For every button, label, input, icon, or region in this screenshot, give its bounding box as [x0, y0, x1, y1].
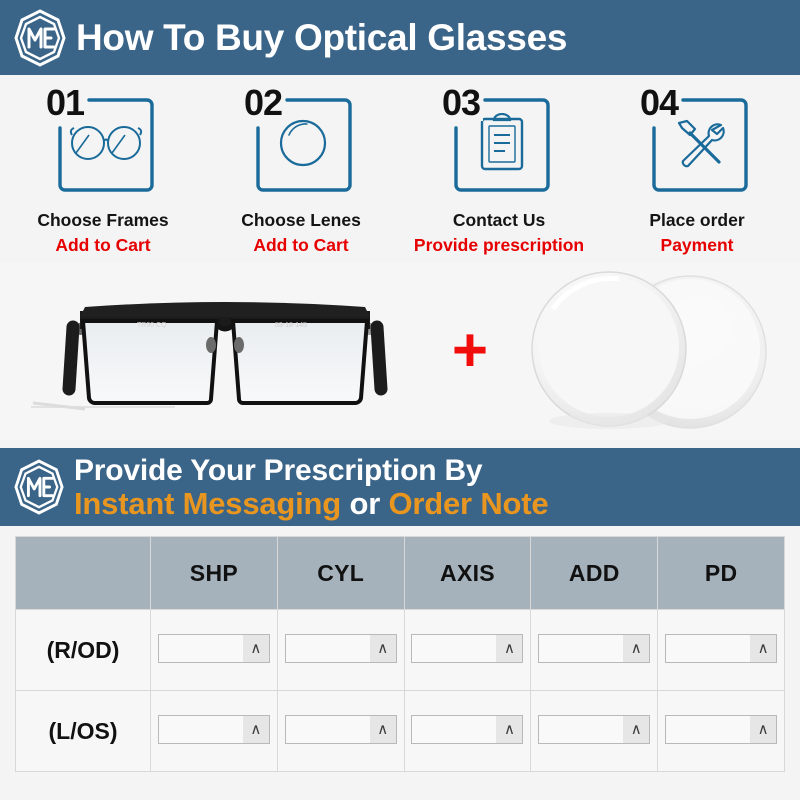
chevron-up-icon[interactable]: ∧ [750, 716, 776, 743]
row-label-left-eye: (L/OS) [16, 691, 151, 772]
hammer-wrench-icon [673, 117, 729, 169]
step-item-2[interactable]: 02 Choose Lenes Add to Cart [202, 89, 400, 256]
svg-text:TR90 CQ: TR90 CQ [137, 322, 167, 329]
table-header-row: SHP CYL AXIS ADD PD [16, 537, 785, 610]
row-label-text: (L/OS) [49, 718, 118, 744]
chevron-up-icon[interactable]: ∧ [750, 635, 776, 662]
table-header: SHP CYL AXIS ADD PD [16, 537, 785, 610]
select-right-shp[interactable]: ∧ [158, 634, 270, 663]
select-right-axis-value [412, 635, 496, 662]
table-row-left-eye: (L/OS) ∧ ∧ ∧ [16, 691, 785, 772]
select-left-cyl-value [286, 716, 370, 743]
select-left-add-value [539, 716, 623, 743]
select-left-axis-value [412, 716, 496, 743]
chevron-up-icon[interactable]: ∧ [623, 635, 649, 662]
step-4-label: Place order [649, 210, 744, 231]
step-1-sub: Add to Cart [55, 235, 150, 256]
chevron-up-icon[interactable]: ∧ [496, 716, 522, 743]
product-illustration-row: TR90 CQ 53-18-145 + [0, 262, 800, 440]
step-4-icon-frame: 04 [635, 89, 759, 197]
step-3-sub: Provide prescription [414, 235, 584, 256]
or-text: or [341, 486, 388, 521]
select-left-cyl[interactable]: ∧ [285, 715, 397, 744]
header-banner-top: How To Buy Optical Glasses [0, 0, 800, 75]
table-body: (R/OD) ∧ ∧ ∧ [16, 610, 785, 772]
step-3-number: 03 [439, 85, 483, 121]
clipboard-icon [477, 113, 527, 171]
select-right-pd[interactable]: ∧ [665, 634, 777, 663]
cell-left-shp: ∧ [151, 691, 278, 772]
row-label-right-eye: (R/OD) [16, 610, 151, 691]
row-label-text: (R/OD) [47, 637, 120, 663]
step-1-icon-frame: 01 [41, 89, 165, 197]
cell-left-axis: ∧ [404, 691, 531, 772]
chevron-up-icon[interactable]: ∧ [370, 716, 396, 743]
select-left-pd[interactable]: ∧ [665, 715, 777, 744]
chevron-up-icon[interactable]: ∧ [496, 635, 522, 662]
me-octagon-logo-icon [14, 9, 66, 67]
step-2-icon-frame: 02 [239, 89, 363, 197]
select-right-axis[interactable]: ∧ [411, 634, 523, 663]
step-2-sub: Add to Cart [253, 235, 348, 256]
prescription-table: SHP CYL AXIS ADD PD (R/OD) ∧ ∧ [15, 536, 785, 772]
plus-symbol: + [440, 332, 500, 369]
chevron-up-icon[interactable]: ∧ [243, 635, 269, 662]
step-4-sub: Payment [661, 235, 734, 256]
step-2-label: Choose Lenes [241, 210, 361, 231]
step-1-label: Choose Frames [37, 210, 168, 231]
select-right-cyl[interactable]: ∧ [285, 634, 397, 663]
select-right-add-value [539, 635, 623, 662]
select-left-shp[interactable]: ∧ [158, 715, 270, 744]
lens-circle-icon [275, 115, 331, 171]
chevron-up-icon[interactable]: ∧ [370, 635, 396, 662]
me-octagon-logo-icon [14, 459, 64, 515]
cell-right-pd: ∧ [658, 610, 785, 691]
header-cyl: CYL [277, 537, 404, 610]
chevron-up-icon[interactable]: ∧ [623, 716, 649, 743]
step-2-number: 02 [241, 85, 285, 121]
step-item-3[interactable]: 03 Contact Us Provide prescription [400, 89, 598, 256]
step-item-4[interactable]: 04 Place order Payment [598, 89, 796, 256]
cell-right-shp: ∧ [151, 610, 278, 691]
step-3-icon-frame: 03 [437, 89, 561, 197]
steps-row: 01 Choose Frames Add to Cart [0, 75, 800, 256]
step-4-number: 04 [637, 85, 681, 121]
select-left-axis[interactable]: ∧ [411, 715, 523, 744]
lens-pair-photo [500, 266, 790, 436]
prescription-heading-line2: Instant Messaging or Order Note [74, 488, 548, 519]
instant-messaging-text: Instant Messaging [74, 486, 341, 521]
cell-left-cyl: ∧ [277, 691, 404, 772]
cell-right-cyl: ∧ [277, 610, 404, 691]
cell-right-add: ∧ [531, 610, 658, 691]
chevron-up-icon[interactable]: ∧ [243, 716, 269, 743]
table-row-right-eye: (R/OD) ∧ ∧ ∧ [16, 610, 785, 691]
eyeglasses-photo: TR90 CQ 53-18-145 [10, 271, 440, 431]
header-banner-prescription: Provide Your Prescription By Instant Mes… [0, 448, 800, 526]
select-right-cyl-value [286, 635, 370, 662]
step-item-1[interactable]: 01 Choose Frames Add to Cart [4, 89, 202, 256]
cell-left-add: ∧ [531, 691, 658, 772]
header-blank [16, 537, 151, 610]
cell-left-pd: ∧ [658, 691, 785, 772]
select-left-add[interactable]: ∧ [538, 715, 650, 744]
cell-right-axis: ∧ [404, 610, 531, 691]
step-3-label: Contact Us [453, 210, 545, 231]
page-title: How To Buy Optical Glasses [76, 19, 567, 56]
select-right-shp-value [159, 635, 243, 662]
select-right-pd-value [666, 635, 750, 662]
header-axis: AXIS [404, 537, 531, 610]
step-1-number: 01 [43, 85, 87, 121]
svg-text:53-18-145: 53-18-145 [275, 322, 307, 329]
select-right-add[interactable]: ∧ [538, 634, 650, 663]
header-pd: PD [658, 537, 785, 610]
header-shp: SHP [151, 537, 278, 610]
select-left-shp-value [159, 716, 243, 743]
select-left-pd-value [666, 716, 750, 743]
order-note-text: Order Note [388, 486, 548, 521]
header-add: ADD [531, 537, 658, 610]
eyeglasses-icon [67, 123, 145, 163]
prescription-heading-line1: Provide Your Prescription By [74, 456, 548, 486]
